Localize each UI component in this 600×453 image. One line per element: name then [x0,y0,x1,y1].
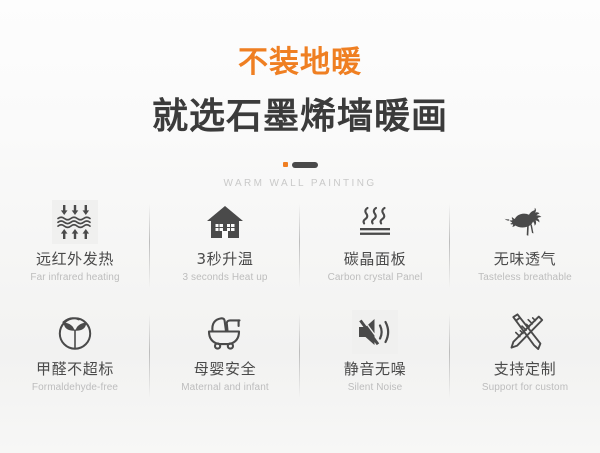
feature-item-odorless[interactable]: 无味透气 Tasteless breathable [450,192,600,302]
feature-label-en: Tasteless breathable [478,272,572,283]
feature-label-en: Support for custom [482,382,568,393]
feature-label-cn: 3秒升温 [197,251,254,268]
feature-item-far-infrared[interactable]: 远红外发热 Far infrared heating [0,192,150,302]
stroller-icon [202,310,248,354]
feature-label-en: Formaldehyde-free [32,382,118,393]
promo-banner: 不装地暖 就选石墨烯墙暖画 WARM WALL PAINTING [0,0,600,453]
bird-icon [502,200,548,244]
feature-label-en: Maternal and infant [181,382,269,393]
feature-label-cn: 甲醛不超标 [36,361,114,378]
feature-label-cn: 无味透气 [494,251,556,268]
divider-dot-icon [283,162,288,167]
feature-item-baby-safe[interactable]: 母婴安全 Maternal and infant [150,302,300,412]
header-block: 不装地暖 就选石墨烯墙暖画 WARM WALL PAINTING [0,0,600,189]
title-divider [0,161,600,168]
leaf-circle-icon [52,310,98,354]
feature-item-silent[interactable]: 静音无噪 Silent Noise [300,302,450,412]
feature-grid: 远红外发热 Far infrared heating 3秒升温 3 second… [0,192,600,412]
feature-label-cn: 碳晶面板 [344,251,406,268]
mute-speaker-icon [352,310,398,354]
subtitle-english: WARM WALL PAINTING [0,178,600,189]
feature-item-fast-heat[interactable]: 3秒升温 3 seconds Heat up [150,192,300,302]
page-title-secondary: 就选石墨烯墙暖画 [0,78,600,135]
feature-label-en: 3 seconds Heat up [182,272,267,283]
ruler-pencil-icon [502,310,548,354]
feature-item-carbon-panel[interactable]: 碳晶面板 Carbon crystal Panel [300,192,450,302]
feature-label-cn: 支持定制 [494,361,556,378]
feature-label-en: Far infrared heating [30,272,119,283]
feature-label-cn: 远红外发热 [36,251,114,268]
house-icon [202,200,248,244]
feature-label-en: Silent Noise [348,382,403,393]
heat-panel-icon [352,200,398,244]
feature-item-formaldehyde-free[interactable]: 甲醛不超标 Formaldehyde-free [0,302,150,412]
feature-label-en: Carbon crystal Panel [328,272,423,283]
feature-label-cn: 静音无噪 [344,361,406,378]
feature-item-custom-support[interactable]: 支持定制 Support for custom [450,302,600,412]
page-title-primary: 不装地暖 [0,0,600,78]
divider-bar-icon [292,162,318,168]
feature-label-cn: 母婴安全 [194,361,256,378]
far-infrared-heat-waves-icon [52,200,98,244]
